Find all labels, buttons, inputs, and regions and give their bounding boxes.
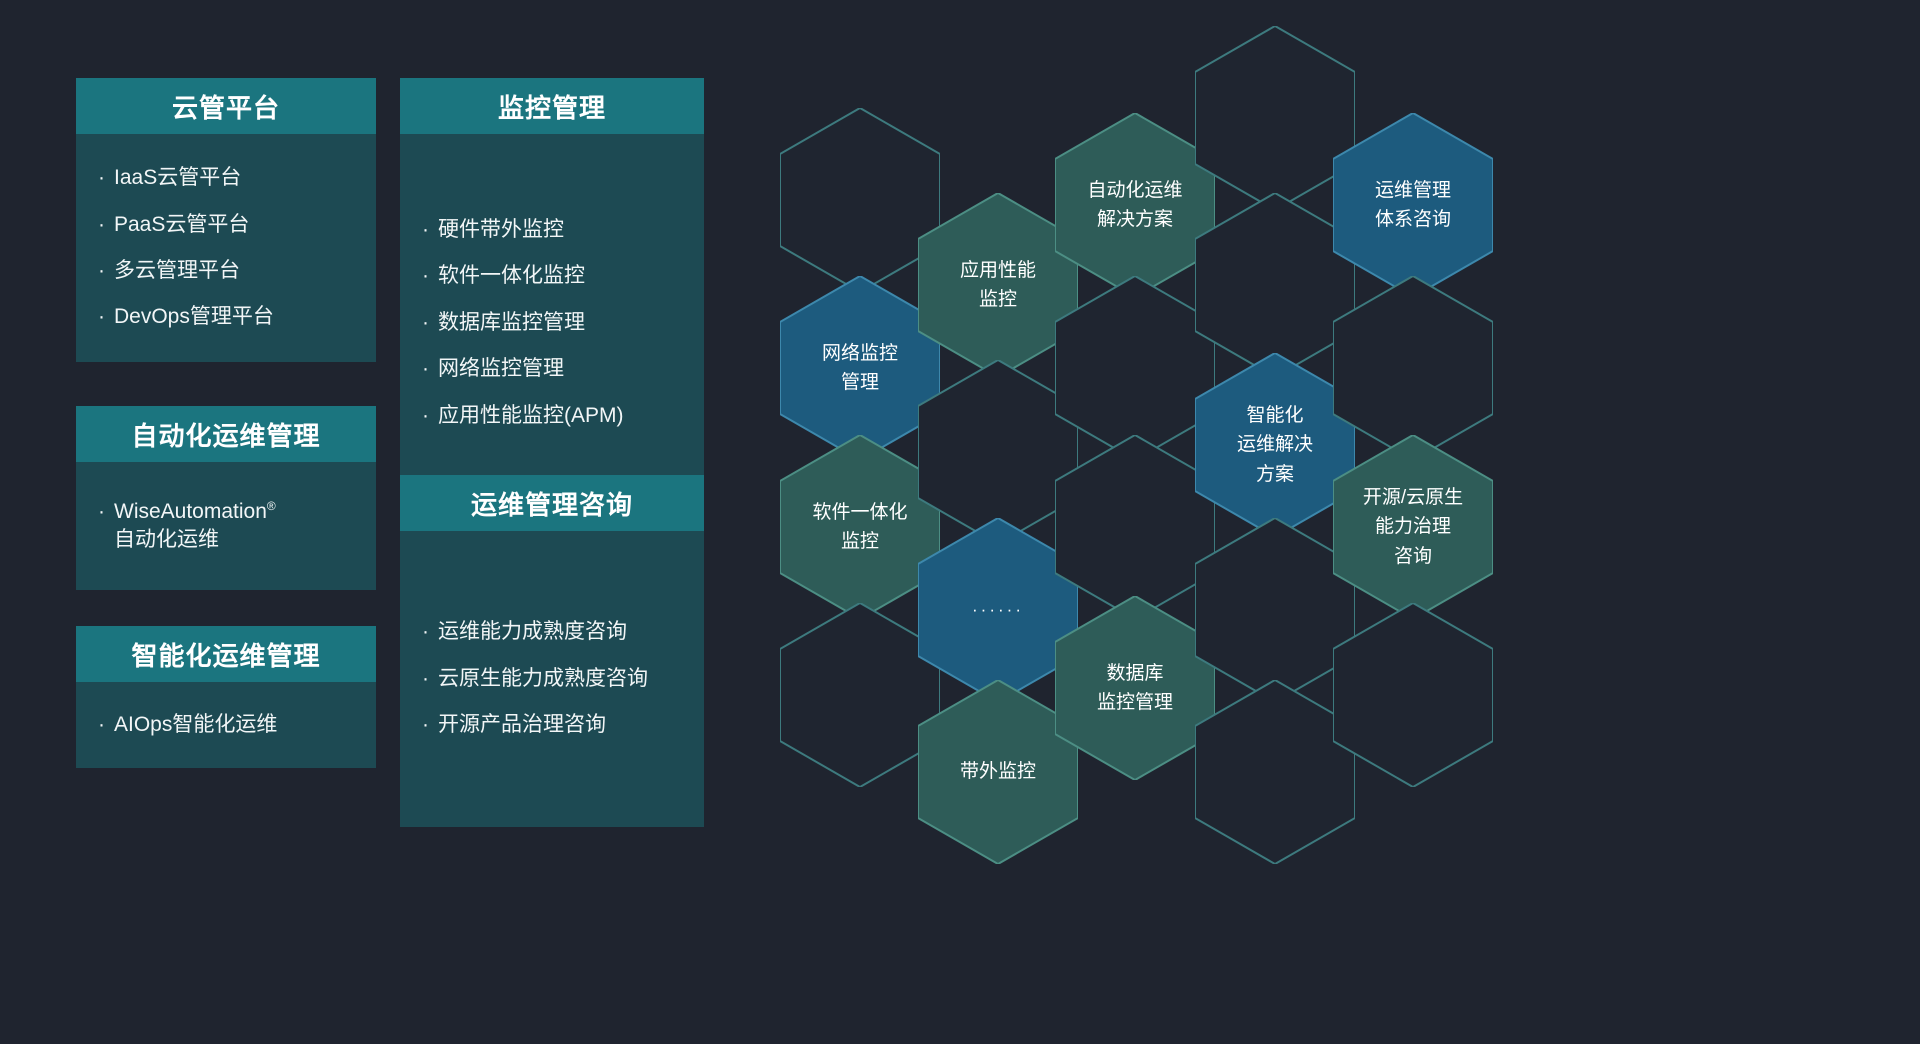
bullet-icon: ·	[422, 402, 438, 430]
hexagon-shape	[1195, 518, 1355, 702]
hexagon-shape	[1195, 26, 1355, 210]
hexagon-shape	[1195, 193, 1355, 377]
list-item-label: 多云管理平台	[114, 257, 360, 285]
list-item-label: 软件一体化监控	[438, 262, 688, 290]
list-item: · PaaS云管平台	[98, 211, 360, 239]
hexagon-shape	[1055, 113, 1215, 297]
hexagon-shape	[1333, 435, 1493, 619]
hexagon-shape	[1333, 276, 1493, 460]
bullet-icon: ·	[422, 216, 438, 244]
card-aiops-management-title: 智能化运维管理	[76, 626, 376, 682]
bullet-icon: ·	[98, 711, 114, 739]
hexagon-shape	[918, 680, 1078, 864]
hexagon-aiops-solution[interactable]: 智能化运维解决方案	[1195, 353, 1355, 537]
registered-trademark-icon: ®	[267, 499, 276, 513]
list-item: · DevOps管理平台	[98, 303, 360, 331]
hexagon-shape	[780, 276, 940, 460]
hexagon-empty-1	[780, 108, 940, 292]
bullet-icon: ·	[422, 355, 438, 383]
hexagon-ops-management-system-consulting[interactable]: 运维管理体系咨询	[1333, 113, 1493, 297]
hexagon-shape	[1195, 353, 1355, 537]
card-cloud-platform[interactable]: 云管平台 · IaaS云管平台 · PaaS云管平台 · 多云管理平台 · De…	[76, 78, 376, 362]
card-aiops-management-body: · AIOps智能化运维	[76, 682, 376, 768]
hexagon-empty-11	[1333, 603, 1493, 787]
hexagon-shape	[1333, 603, 1493, 787]
card-ops-management-consulting-title: 运维管理咨询	[400, 475, 704, 531]
list-item-label: 开源产品治理咨询	[438, 711, 688, 739]
product-name: WiseAutomation	[114, 500, 267, 523]
hexagon-capability-map: 网络监控管理软件一体化监控应用性能监控······带外监控自动化运维解决方案数据…	[760, 0, 1920, 1044]
card-automation-ops-management-title: 自动化运维管理	[76, 406, 376, 462]
list-item-label: 网络监控管理	[438, 355, 688, 383]
card-aiops-management[interactable]: 智能化运维管理 · AIOps智能化运维	[76, 626, 376, 768]
hexagon-app-performance-monitoring[interactable]: 应用性能监控	[918, 193, 1078, 377]
hexagon-opensource-cloudnative-governance-consulting[interactable]: 开源/云原生能力治理咨询	[1333, 435, 1493, 619]
list-item-label: IaaS云管平台	[114, 164, 360, 192]
hexagon-empty-10	[1333, 276, 1493, 460]
hexagon-shape	[780, 108, 940, 292]
bullet-icon: ·	[422, 262, 438, 290]
bullet-icon: ·	[422, 618, 438, 646]
bullet-icon: ·	[422, 711, 438, 739]
hexagon-empty-3	[918, 360, 1078, 544]
bullet-icon: ·	[422, 665, 438, 693]
bullet-icon: ·	[422, 309, 438, 337]
list-item: · 多云管理平台	[98, 257, 360, 285]
bullet-icon: ·	[98, 303, 114, 331]
list-item-label: 云原生能力成熟度咨询	[438, 665, 688, 693]
card-ops-management-consulting-body: · 运维能力成熟度咨询 · 云原生能力成熟度咨询 · 开源产品治理咨询	[400, 531, 704, 827]
slide-canvas: 云管平台 · IaaS云管平台 · PaaS云管平台 · 多云管理平台 · De…	[0, 0, 1920, 1044]
hexagon-empty-8	[1195, 518, 1355, 702]
card-cloud-platform-body: · IaaS云管平台 · PaaS云管平台 · 多云管理平台 · DevOps管…	[76, 134, 376, 362]
card-monitoring-management-title: 监控管理	[400, 78, 704, 134]
hexagon-automation-ops-solution[interactable]: 自动化运维解决方案	[1055, 113, 1215, 297]
hexagon-database-monitoring[interactable]: 数据库监控管理	[1055, 596, 1215, 780]
hexagon-shape	[918, 193, 1078, 377]
hexagon-empty-9	[1195, 680, 1355, 864]
list-item-label: DevOps管理平台	[114, 303, 360, 331]
list-item-label: 运维能力成熟度咨询	[438, 618, 688, 646]
hexagon-out-of-band-monitoring[interactable]: 带外监控	[918, 680, 1078, 864]
list-item-label: 数据库监控管理	[438, 309, 688, 337]
list-item: · 硬件带外监控	[422, 216, 688, 244]
bullet-icon: ·	[98, 498, 114, 526]
hexagon-shape	[1055, 276, 1215, 460]
list-item: · 应用性能监控(APM)	[422, 402, 688, 430]
hexagon-shape	[1055, 596, 1215, 780]
hexagon-empty-4	[1055, 276, 1215, 460]
card-monitoring-management-body: · 硬件带外监控 · 软件一体化监控 · 数据库监控管理 · 网络监控管理 ·	[400, 134, 704, 512]
card-monitoring-management[interactable]: 监控管理 · 硬件带外监控 · 软件一体化监控 · 数据库监控管理 · 网络监控…	[400, 78, 704, 512]
list-item: · 开源产品治理咨询	[422, 711, 688, 739]
list-item: · 网络监控管理	[422, 355, 688, 383]
hexagon-shape	[1195, 680, 1355, 864]
hexagon-shape	[1055, 435, 1215, 619]
card-automation-ops-management-body: · WiseAutomation®自动化运维	[76, 462, 376, 590]
list-item-label: AIOps智能化运维	[114, 711, 360, 739]
hexagon-empty-6	[1195, 26, 1355, 210]
hexagon-empty-7	[1195, 193, 1355, 377]
hexagon-shape	[780, 603, 940, 787]
hexagon-empty-5	[1055, 435, 1215, 619]
list-item: · IaaS云管平台	[98, 164, 360, 192]
list-item-label: 硬件带外监控	[438, 216, 688, 244]
list-item: · 云原生能力成熟度咨询	[422, 665, 688, 693]
hexagon-shape	[918, 360, 1078, 544]
hexagon-shape	[780, 435, 940, 619]
list-item-label: WiseAutomation®自动化运维	[114, 498, 360, 555]
card-cloud-platform-title: 云管平台	[76, 78, 376, 134]
hexagon-software-integrated-monitoring[interactable]: 软件一体化监控	[780, 435, 940, 619]
list-item: · 运维能力成熟度咨询	[422, 618, 688, 646]
list-item: · AIOps智能化运维	[98, 711, 360, 739]
card-automation-ops-management[interactable]: 自动化运维管理 · WiseAutomation®自动化运维	[76, 406, 376, 590]
product-subtitle: 自动化运维	[114, 528, 219, 551]
list-item: · WiseAutomation®自动化运维	[98, 498, 360, 555]
hexagon-ellipsis[interactable]: ······	[918, 518, 1078, 702]
bullet-icon: ·	[98, 257, 114, 285]
hexagon-shape	[1333, 113, 1493, 297]
list-item: · 数据库监控管理	[422, 309, 688, 337]
card-ops-management-consulting[interactable]: 运维管理咨询 · 运维能力成熟度咨询 · 云原生能力成熟度咨询 · 开源产品治理…	[400, 475, 704, 827]
service-card-panel: 云管平台 · IaaS云管平台 · PaaS云管平台 · 多云管理平台 · De…	[0, 0, 760, 1044]
bullet-icon: ·	[98, 164, 114, 192]
hexagon-shape	[918, 518, 1078, 702]
hexagon-network-monitoring[interactable]: 网络监控管理	[780, 276, 940, 460]
list-item-label: PaaS云管平台	[114, 211, 360, 239]
hexagon-empty-2	[780, 603, 940, 787]
bullet-icon: ·	[98, 211, 114, 239]
list-item-label: 应用性能监控(APM)	[438, 402, 688, 430]
list-item: · 软件一体化监控	[422, 262, 688, 290]
